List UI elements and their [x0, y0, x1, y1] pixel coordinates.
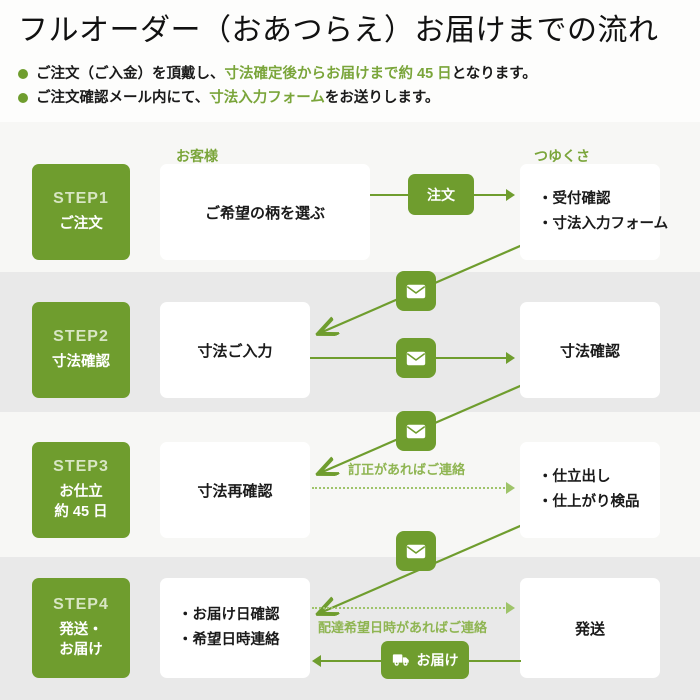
arrowhead-step3-right	[506, 482, 515, 494]
bullet-2-accent: 寸法入力フォーム	[209, 86, 325, 110]
edge-label-step4: 配達希望日時があればご連絡	[318, 617, 487, 636]
arrowhead-step4-left	[312, 655, 321, 667]
card-step1-customer: ご希望の柄を選ぶ	[160, 164, 370, 260]
connector-step2-right	[436, 357, 508, 359]
step-2-label: 寸法確認	[52, 352, 110, 372]
flowchart-page: フルオーダー（おあつらえ）お届けまでの流れ ご注文（ご入金）を頂戴し、 寸法確定…	[0, 0, 700, 700]
page-title: フルオーダー（おあつらえ）お届けまでの流れ	[18, 11, 659, 51]
step-3-number: STEP3	[53, 458, 109, 476]
card-step2-shop-text: 寸法確認	[560, 340, 620, 361]
mail-icon	[406, 544, 426, 559]
bullet-1-post: となります。	[452, 62, 537, 86]
bullet-dot-icon	[18, 69, 28, 79]
bullet-2-post: をお送りします。	[325, 86, 440, 110]
step-chip-4: STEP4 発送・ お届け	[32, 578, 130, 678]
step-2-number: STEP2	[53, 328, 109, 346]
step-3-label-line2: 約 45 日	[54, 502, 107, 522]
connector-step4-right	[469, 660, 521, 662]
card-step4-customer-line2: ・希望日時連絡	[178, 628, 280, 653]
card-step1-shop-line1: ・受付確認	[538, 187, 611, 212]
card-step4-shop: 発送	[520, 578, 660, 678]
step-4-label-line1: 発送・	[59, 620, 103, 640]
mail-icon	[406, 284, 426, 299]
badge-delivery: お届け	[381, 641, 469, 679]
badge-mail-4	[396, 531, 436, 571]
step-chip-1: STEP1 ご注文	[32, 164, 130, 260]
card-step1-shop-line2: ・寸法入力フォーム	[538, 212, 668, 237]
badge-mail-1	[396, 271, 436, 311]
step-1-label: ご注文	[59, 214, 103, 234]
step-4-number: STEP4	[53, 596, 109, 614]
card-step2-customer-text: 寸法ご入力	[197, 340, 272, 361]
header: フルオーダー（おあつらえ）お届けまでの流れ ご注文（ご入金）を頂戴し、 寸法確定…	[0, 0, 700, 122]
bullet-1-accent: 寸法確定後からお届けまで約 45 日	[225, 62, 452, 86]
card-step3-shop-line1: ・仕立出し	[538, 465, 611, 490]
card-step2-shop: 寸法確認	[520, 302, 660, 398]
dotted-connector-step4	[312, 607, 508, 609]
connector-step1-right	[474, 194, 508, 196]
badge-mail-3	[396, 411, 436, 451]
badge-mail-2	[396, 338, 436, 378]
truck-icon	[392, 653, 411, 667]
step-1-number: STEP1	[53, 190, 109, 208]
header-bullet-list: ご注文（ご入金）を頂戴し、 寸法確定後からお届けまで約 45 日 となります。 …	[18, 62, 537, 110]
arrowhead-step2-right	[506, 352, 515, 364]
card-step3-customer-text: 寸法再確認	[197, 480, 272, 501]
mail-icon	[406, 424, 426, 439]
edge-label-step3: 訂正があればご連絡	[348, 459, 465, 478]
badge-order-label: 注文	[427, 185, 455, 205]
step-chip-3: STEP3 お仕立 約 45 日	[32, 442, 130, 538]
column-caption-customer: お客様	[176, 146, 218, 166]
card-step3-shop: ・仕立出し ・仕上がり検品	[520, 442, 660, 538]
arrowhead-step1-right	[506, 189, 515, 201]
connector-step2-left	[310, 357, 396, 359]
card-step3-customer: 寸法再確認	[160, 442, 310, 538]
arrowhead-step4-right	[506, 602, 515, 614]
dotted-connector-step3	[312, 487, 508, 489]
header-bullet-1: ご注文（ご入金）を頂戴し、 寸法確定後からお届けまで約 45 日 となります。	[18, 62, 537, 86]
bullet-2-pre: ご注文確認メール内にて、	[36, 86, 209, 110]
card-step4-shop-text: 発送	[575, 618, 605, 639]
step-chip-2: STEP2 寸法確認	[32, 302, 130, 398]
column-caption-shop: つゆくさ	[534, 146, 590, 166]
connector-step4-left	[321, 660, 383, 662]
connector-step1-left	[370, 194, 410, 196]
step-4-label-line2: お届け	[59, 640, 103, 660]
bullet-1-pre: ご注文（ご入金）を頂戴し、	[36, 62, 225, 86]
card-step2-customer: 寸法ご入力	[160, 302, 310, 398]
header-bullet-2: ご注文確認メール内にて、 寸法入力フォーム をお送りします。	[18, 86, 537, 110]
card-step1-customer-text: ご希望の柄を選ぶ	[205, 202, 325, 223]
step-3-label-line1: お仕立	[59, 482, 103, 502]
card-step3-shop-line2: ・仕上がり検品	[538, 490, 640, 515]
card-step1-shop: ・受付確認 ・寸法入力フォーム	[520, 164, 660, 260]
card-step4-customer: ・お届け日確認 ・希望日時連絡	[160, 578, 310, 678]
badge-order: 注文	[408, 174, 474, 215]
badge-delivery-label: お届け	[417, 650, 459, 670]
mail-icon	[406, 351, 426, 366]
card-step4-customer-line1: ・お届け日確認	[178, 603, 280, 628]
bullet-dot-icon	[18, 93, 28, 103]
